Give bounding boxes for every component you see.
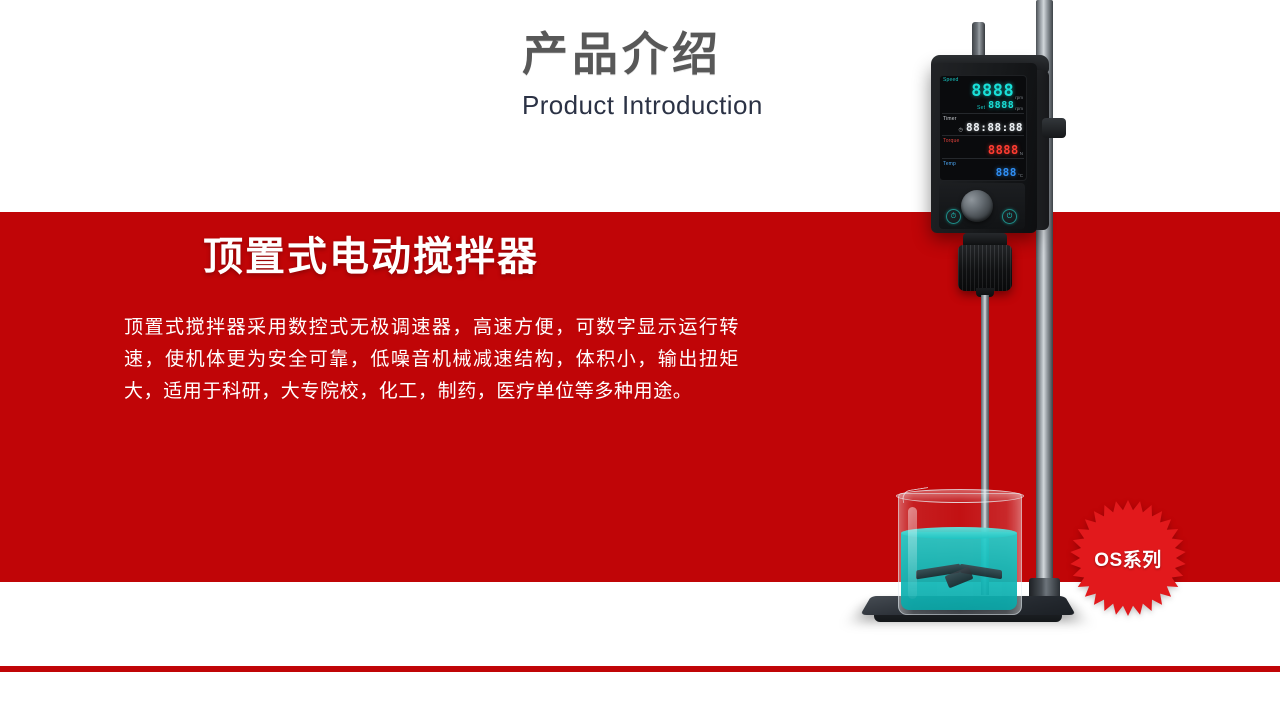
control-display-panel: Speed 8888 rpm Set 8888 rpm Timer ◷ 88:8… (939, 75, 1027, 181)
speed-value: 8888 (971, 83, 1014, 100)
footer-rule (0, 666, 1280, 672)
drill-chuck (958, 245, 1012, 291)
torque-unit: N (1020, 151, 1023, 156)
timer-button[interactable]: ⏱ (946, 209, 961, 224)
speed-set-unit: rpm (1015, 106, 1023, 111)
speed-set-label: Set (977, 105, 985, 111)
torque-value: 8888 (988, 144, 1019, 156)
display-row-speed: Speed 8888 rpm Set 8888 rpm (940, 76, 1026, 112)
temperature-unit: °C (1018, 173, 1023, 178)
page-title-cn: 产品介绍 (522, 26, 763, 82)
slide-root: 产品介绍 Product Introduction 顶置式电动搅拌器 顶置式搅拌… (0, 0, 1280, 720)
product-heading: 顶置式电动搅拌器 (0, 232, 742, 282)
banner-text-block: 顶置式电动搅拌器 顶置式搅拌器采用数控式无极调速器，高速方便，可数字显示运行转速… (0, 212, 790, 582)
temperature-value: 888 (996, 167, 1017, 178)
page-title-en: Product Introduction (522, 88, 763, 122)
speed-unit: rpm (1015, 95, 1023, 100)
display-divider-3 (942, 158, 1024, 159)
beaker-highlight (908, 507, 917, 599)
series-badge-label: OS系列 (1068, 500, 1188, 616)
speed-set-value: 8888 (988, 101, 1014, 111)
display-divider-2 (942, 135, 1024, 136)
impeller-blades (916, 559, 1002, 585)
power-icon: ⏻ (1003, 210, 1016, 223)
display-divider-1 (942, 113, 1024, 114)
power-button[interactable]: ⏻ (1002, 209, 1017, 224)
glass-beaker (898, 487, 1020, 619)
liquid-surface (901, 527, 1017, 539)
timer-icon: ⏱ (947, 210, 960, 223)
side-port-knob (1042, 118, 1066, 138)
timer-value: 88:88:88 (966, 122, 1023, 133)
display-row-temperature: Temp 888 °C (940, 160, 1026, 179)
speed-control-knob[interactable] (961, 190, 993, 222)
display-row-timer: Timer ◷ 88:88:88 (940, 115, 1026, 134)
clock-icon: ◷ (958, 127, 963, 133)
product-description: 顶置式搅拌器采用数控式无极调速器，高速方便，可数字显示运行转速，使机体更为安全可… (124, 312, 739, 408)
display-row-torque: Torque 8888 N (940, 137, 1026, 157)
header-titles: 产品介绍 Product Introduction (522, 26, 763, 122)
control-knob-block: ⏱ ⏻ (939, 183, 1025, 229)
series-badge: OS系列 (1068, 500, 1188, 616)
